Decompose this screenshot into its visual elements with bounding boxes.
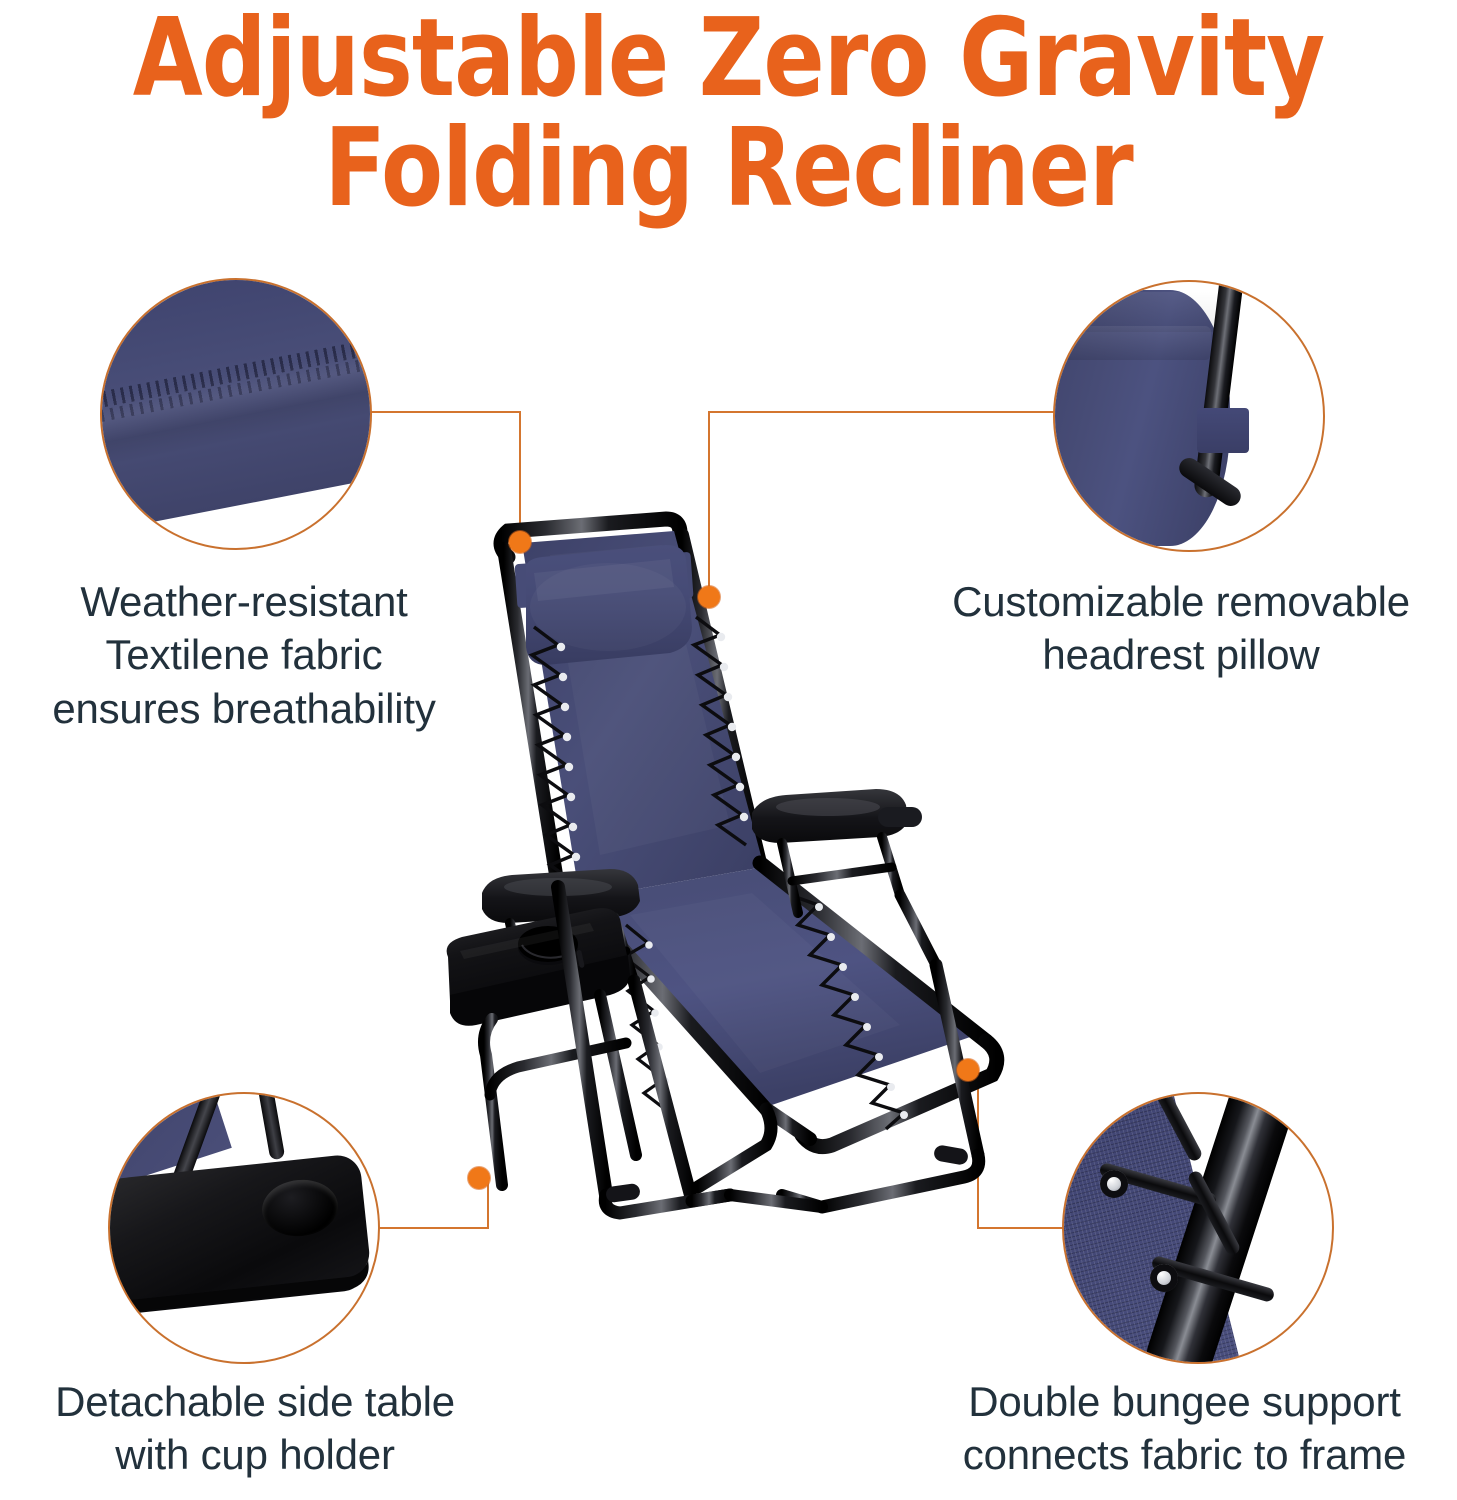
caption-line: Double bungee support [912,1375,1457,1428]
marker-dot-side-table [468,1167,490,1189]
callout-bubble-removable-headrest-pillow [1053,280,1325,552]
grommet-icon [1150,1264,1178,1292]
caption-line: headrest pillow [905,628,1457,681]
marker-dot-headrest [698,586,720,608]
caption-line: ensures breathability [0,682,494,735]
caption-detachable-side-table: Detachable side table with cup holder [0,1375,516,1482]
infographic-canvas: Adjustable Zero Gravity Folding Recliner [0,0,1457,1500]
title-line-2: Folding Recliner [51,114,1406,224]
caption-line: Weather-resistant [0,575,494,628]
caption-line: Customizable removable [905,575,1457,628]
callout-bubble-weather-resistant-fabric [100,278,372,550]
caption-line: Detachable side table [0,1375,516,1428]
marker-dot-fabric [509,531,531,553]
title-line-1: Adjustable Zero Gravity [51,4,1406,114]
callout-bubble-double-bungee-support [1062,1092,1334,1364]
bungee-support-closeup-image [1064,1094,1332,1362]
connector-line-top-left-h [371,411,521,413]
caption-double-bungee-support: Double bungee support connects fabric to… [912,1375,1457,1482]
caption-weather-resistant-fabric: Weather-resistant Textilene fabric ensur… [0,575,494,735]
marker-dot-bungee [957,1059,979,1081]
caption-line: with cup holder [0,1428,516,1481]
fabric-closeup-image [102,280,370,548]
page-title: Adjustable Zero Gravity Folding Recliner [0,4,1457,224]
caption-line: connects fabric to frame [912,1428,1457,1481]
side-table-closeup-image [110,1094,378,1362]
caption-line: Textilene fabric [0,628,494,681]
caption-removable-headrest-pillow: Customizable removable headrest pillow [905,575,1457,682]
headrest-pillow-closeup-image [1055,282,1323,550]
connector-line-top-right-h [708,411,1055,413]
callout-bubble-detachable-side-table [108,1092,380,1364]
grommet-icon [1100,1170,1128,1198]
